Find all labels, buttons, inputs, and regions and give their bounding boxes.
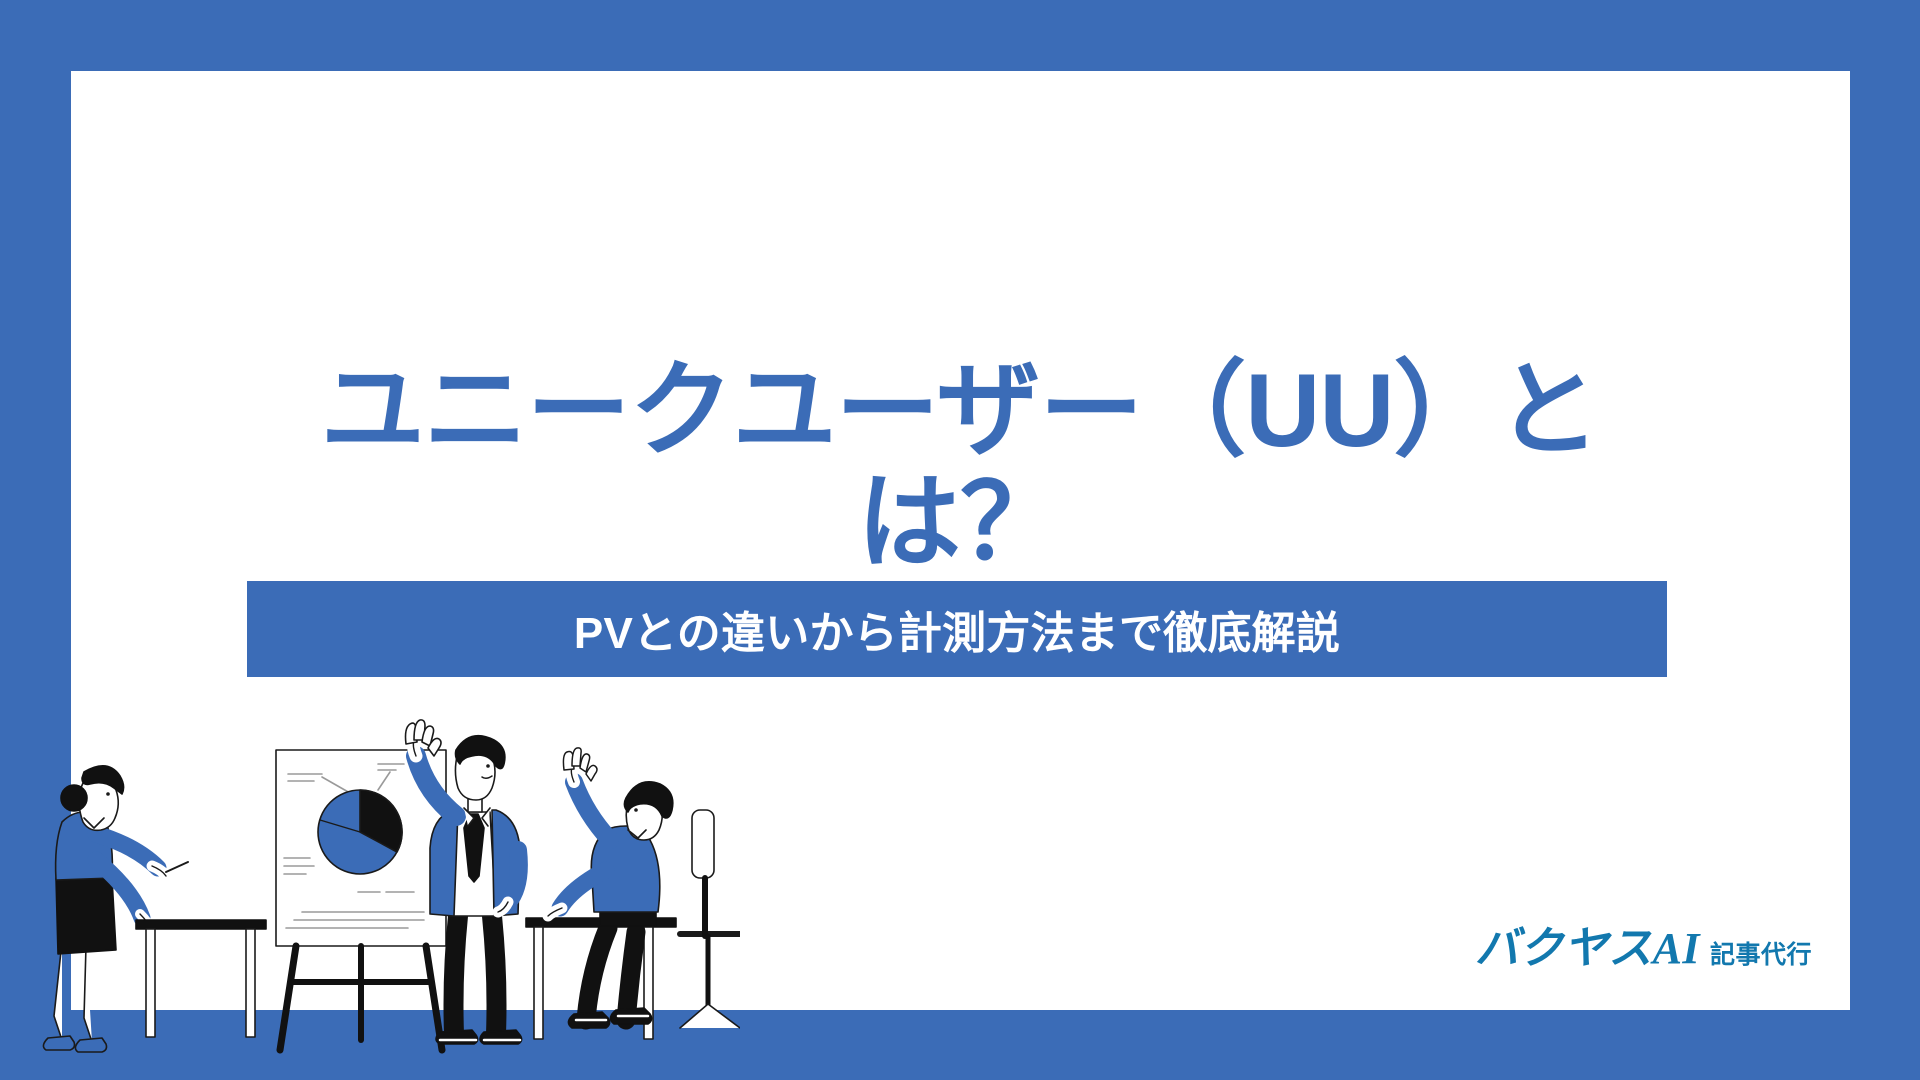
brand-logo-main: バクヤスAI bbox=[1475, 912, 1700, 976]
brand-logo: バクヤスAI 記事代行 bbox=[1475, 912, 1812, 976]
slide-canvas: ユニークユーザー（UU）とは？ bbox=[0, 0, 1920, 1080]
brand-logo-sub: 記事代行 bbox=[1710, 935, 1812, 971]
business-team-illustration bbox=[40, 710, 740, 1080]
subtitle-banner: PVとの違いから計測方法まで徹底解説 bbox=[247, 581, 1667, 677]
subtitle-text: PVとの違いから計測方法まで徹底解説 bbox=[574, 597, 1340, 661]
page-title: ユニークユーザー（UU）とは？ bbox=[240, 355, 1680, 580]
